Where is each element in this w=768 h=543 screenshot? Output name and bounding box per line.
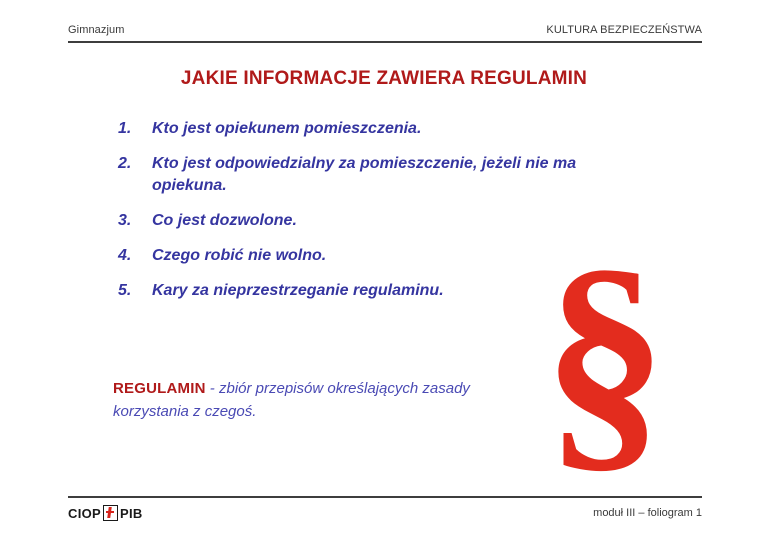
- definition-term: REGULAMIN: [113, 380, 206, 397]
- section-sign-icon: §: [540, 252, 670, 462]
- list-item-text: Kto jest odpowiedzialny za pomieszczenie…: [152, 153, 652, 198]
- definition-block: REGULAMIN - zbiór przepisów określającyc…: [113, 378, 543, 423]
- slide: Gimnazjum KULTURA BEZPIECZEŃSTWA JAKIE I…: [0, 0, 768, 543]
- slide-title: JAKIE INFORMACJE ZAWIERA REGULAMIN: [0, 68, 768, 90]
- ciop-pib-logo: CIOP PIB: [68, 505, 143, 521]
- header-left-label: Gimnazjum: [68, 24, 125, 36]
- logo-text-pib: PIB: [120, 506, 143, 521]
- list-item-number: 2.: [118, 153, 152, 176]
- list-item-number: 5.: [118, 280, 152, 303]
- list-item: 1. Kto jest opiekunem pomieszczenia.: [118, 118, 678, 141]
- logo-text-ciop: CIOP: [68, 506, 101, 521]
- footer-divider: [68, 496, 702, 498]
- list-item-number: 1.: [118, 118, 152, 141]
- header-right-label: KULTURA BEZPIECZEŃSTWA: [546, 24, 702, 36]
- list-item-number: 4.: [118, 245, 152, 268]
- logo-mark-icon: [103, 505, 118, 521]
- slide-footer: CIOP PIB moduł III – foliogram 1: [68, 503, 702, 523]
- list-item-text: Kto jest opiekunem pomieszczenia.: [152, 118, 652, 141]
- header-divider: [68, 41, 702, 43]
- list-item: 2. Kto jest odpowiedzialny za pomieszcze…: [118, 153, 678, 198]
- list-item-number: 3.: [118, 210, 152, 233]
- footer-page-label: moduł III – foliogram 1: [593, 507, 702, 519]
